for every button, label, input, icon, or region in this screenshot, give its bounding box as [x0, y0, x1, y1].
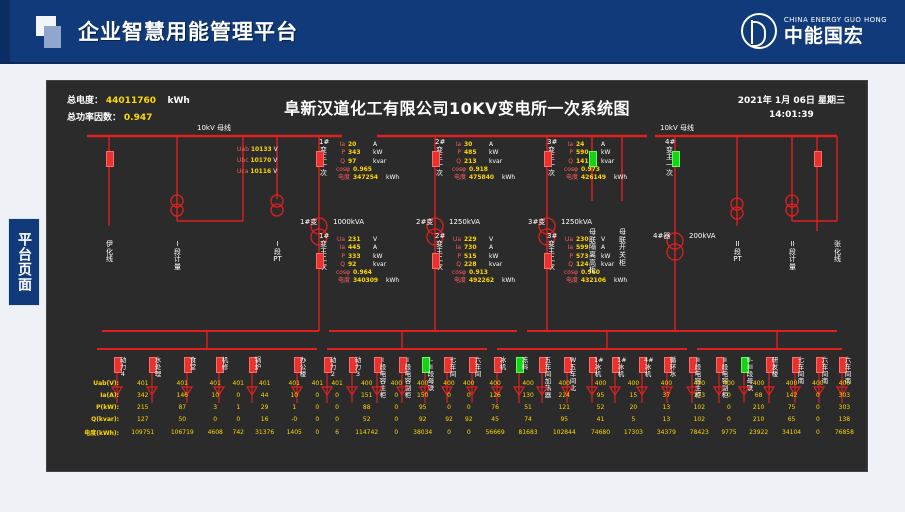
table-cell: 1: [281, 401, 307, 413]
bus-label-right: 10kV 母线: [660, 125, 694, 132]
lv1-q-unit: kvar: [373, 261, 386, 269]
lv1-p-unit: kW: [373, 253, 382, 261]
table-cell: 215: [123, 401, 163, 413]
hv3-energy-value: 426149: [581, 174, 611, 182]
datetime-block: 2021年 1月 06日 星期三 14:01:39: [738, 95, 845, 122]
lv3-ua-key: Ua: [558, 236, 573, 244]
table-cell: 210: [742, 401, 775, 413]
table-cell: 88: [347, 401, 387, 413]
pt-voltage-block: Uab 10133 V Ubc 10170 V Uca 10116 V: [237, 145, 278, 177]
table-cell: 1405: [281, 425, 307, 439]
table-cell: 400: [683, 377, 716, 389]
hv1-energy-unit: kWh: [386, 174, 399, 182]
hv2-p-unit: kW: [489, 149, 498, 157]
app-header: 企业智慧用能管理平台 CHINA ENERGY GUO HONG 中能国宏: [0, 0, 905, 64]
table-cell: 0: [439, 401, 459, 413]
table-cell: 3: [202, 401, 228, 413]
hv2-energy-unit: kWh: [502, 174, 515, 182]
table-cell: 400: [584, 377, 617, 389]
table-cell: 52: [347, 413, 387, 425]
table-cell: 0: [459, 401, 479, 413]
table-cell: 173: [683, 389, 716, 401]
lv2-ua-key: Ua: [446, 236, 461, 244]
table-cell: 78423: [683, 425, 716, 439]
uab-unit: V: [274, 146, 278, 153]
table-cell: 400: [775, 377, 808, 389]
app-title: 企业智慧用能管理平台: [78, 16, 298, 46]
lv1-ua-value: 231: [348, 236, 370, 244]
table-row-header: Uab(V):: [61, 377, 123, 389]
table-cell: 95: [545, 413, 585, 425]
table-cell: 102844: [545, 425, 585, 439]
lv3-q-key: Q: [558, 261, 573, 269]
table-cell: 87: [163, 401, 203, 413]
lv1-energy-value: 340309: [353, 277, 383, 285]
hv2-p-key: P: [446, 149, 461, 157]
lv3-energy-value: 432106: [581, 277, 611, 285]
table-cell: 0: [327, 389, 347, 401]
table-cell: 400: [828, 377, 861, 389]
table-row-header: Q(kvar):: [61, 413, 123, 425]
table-cell: 401: [307, 377, 327, 389]
table-cell: 68: [742, 389, 775, 401]
sidebar-item-platform-page[interactable]: 平台页面: [8, 218, 40, 306]
table-cell: 81683: [512, 425, 545, 439]
table-row: Uab(V):401401401401401401401401400400400…: [61, 377, 861, 389]
table-cell: 20: [617, 401, 650, 413]
table-cell: 0: [808, 389, 828, 401]
hv1-cos-key: cosφ: [330, 166, 350, 174]
transformer-rating-1: 1000kVA: [333, 219, 364, 226]
hv3-energy-key: 电度: [558, 174, 578, 182]
lv1-ua-key: Ua: [330, 236, 345, 244]
hv1-ia-key: Ia: [330, 141, 345, 149]
lv1-energy-unit: kWh: [386, 277, 399, 285]
table-cell: 102: [683, 401, 716, 413]
table-cell: 34379: [650, 425, 683, 439]
hv1-ia-value: 20: [348, 141, 370, 149]
uab-value: 10133: [251, 146, 272, 153]
table-cell: 0: [307, 425, 327, 439]
table-cell: 41: [584, 413, 617, 425]
brand-logo-icon: [741, 13, 777, 49]
table-cell: 0: [808, 413, 828, 425]
lv1-p-value: 333: [348, 253, 370, 261]
transformer-rating-3: 1250kVA: [561, 219, 592, 226]
breaker-tx1-hv[interactable]: [316, 151, 324, 167]
hv2-q-key: Q: [446, 158, 461, 166]
hv2-cos-value: 0.918: [469, 166, 491, 174]
hv1-q-value: 97: [348, 158, 370, 166]
table-cell: 92: [459, 413, 479, 425]
table-cell: 114742: [347, 425, 387, 439]
hv2-ia-value: 30: [464, 141, 486, 149]
header-accent-bar: [0, 0, 10, 62]
hv1-energy-value: 347254: [353, 174, 383, 182]
hv3-p-key: P: [558, 149, 573, 157]
hv2-p-value: 485: [464, 149, 486, 157]
table-cell: 0: [459, 389, 479, 401]
table-cell: 126: [479, 389, 512, 401]
hv2-cos-key: cosφ: [446, 166, 466, 174]
lv2-p-value: 515: [464, 253, 486, 261]
hv3-q-unit: kvar: [601, 158, 614, 166]
table-cell: 74680: [584, 425, 617, 439]
table-cell: 5: [617, 413, 650, 425]
hv3-q-key: Q: [558, 158, 573, 166]
table-cell: 150: [406, 389, 439, 401]
ubc-key: Ubc: [237, 157, 249, 164]
table-cell: 0: [386, 425, 406, 439]
table-cell: 76: [479, 401, 512, 413]
hv1-p-unit: kW: [373, 149, 382, 157]
lv3-ua-unit: V: [601, 236, 605, 244]
bay-label-section2-metering: II段计量: [788, 241, 797, 272]
sld-diagram-panel: 总电度： 44011760 kWh 总功率因数： 0.947 阜新汉道化工有限公…: [46, 80, 868, 472]
table-cell: -0: [281, 413, 307, 425]
table-cell: 0: [327, 401, 347, 413]
transformer-name-1: 1#变: [300, 219, 317, 226]
lv1-q-key: Q: [330, 261, 345, 269]
hv-meter-block-2: Ia30A P485kW Q213kvar cosφ0.918 电度475840…: [446, 141, 515, 182]
table-cell: 400: [406, 377, 439, 389]
lv2-ia-key: Ia: [446, 244, 461, 252]
table-cell: 401: [281, 377, 307, 389]
table-cell: 74: [512, 413, 545, 425]
lv2-cos-value: 0.913: [469, 269, 491, 277]
lv-meter-block-1: Ua231V Ia445A P333kW Q92kvar cosφ0.964 电…: [330, 236, 399, 286]
table-cell: 0: [459, 425, 479, 439]
hv2-ia-unit: A: [489, 141, 493, 149]
breaker-bus-tie-hv[interactable]: [589, 151, 597, 167]
table-cell: 0: [808, 401, 828, 413]
hv1-p-key: P: [330, 149, 345, 157]
feeder-label: 冻料: [521, 357, 529, 371]
table-cell: 0: [327, 413, 347, 425]
table-cell: 37: [650, 389, 683, 401]
table-cell: 146: [163, 389, 203, 401]
uab-key: Uab: [237, 146, 249, 153]
bay-label-bus-tie-isolator: 母联隔离高柜: [588, 229, 597, 275]
table-cell: 44: [248, 389, 281, 401]
breaker-tx2-hv[interactable]: [432, 151, 440, 167]
table-cell: 400: [439, 377, 459, 389]
hv1-q-unit: kvar: [373, 158, 386, 166]
table-cell: 102: [683, 413, 716, 425]
table-cell: 401: [123, 377, 163, 389]
table-cell: 92: [439, 413, 459, 425]
table-cell: 109751: [123, 425, 163, 439]
table-cell: 400: [808, 377, 828, 389]
table-cell: 52: [584, 401, 617, 413]
ubc-unit: V: [273, 157, 277, 164]
bay-label-zhanghua-line: 张化线: [833, 241, 842, 264]
brand-name-en: CHINA ENERGY GUO HONG: [784, 17, 887, 24]
table-cell: 0: [386, 389, 406, 401]
table-cell: 13: [650, 401, 683, 413]
hv3-cos-key: cosφ: [558, 166, 578, 174]
hv2-energy-key: 电度: [446, 174, 466, 182]
table-row: Q(kvar):127500016-0005209292924574954151…: [61, 413, 861, 425]
table-cell: 138: [828, 413, 861, 425]
parameter-table: Uab(V):401401401401401401401401400400400…: [61, 377, 861, 439]
table-cell: 121: [545, 401, 585, 413]
table-cell: 151: [347, 389, 387, 401]
lv2-ua-unit: V: [489, 236, 493, 244]
lv1-ia-value: 445: [348, 244, 370, 252]
table-cell: 0: [716, 401, 742, 413]
table-cell: 401: [163, 377, 203, 389]
table-cell: 400: [650, 377, 683, 389]
brand-name-cn: 中能国宏: [784, 27, 887, 46]
table-cell: 10: [281, 389, 307, 401]
table-cell: 400: [479, 377, 512, 389]
table-cell: 400: [716, 377, 742, 389]
table-cell: 75: [775, 401, 808, 413]
table-cell: 400: [459, 377, 479, 389]
uca-value: 10116: [250, 168, 271, 175]
lv2-q-key: Q: [446, 261, 461, 269]
breaker-yihua-line[interactable]: [106, 151, 114, 167]
lv2-energy-unit: kWh: [502, 277, 515, 285]
bay-label-section1-metering: I段计量: [173, 241, 182, 272]
bay-label-section2-pt: II段PT: [733, 241, 742, 264]
table-row: P(kW):2158731291008809500765112152201310…: [61, 401, 861, 413]
lv1-energy-key: 电度: [330, 277, 350, 285]
table-cell: 401: [202, 377, 228, 389]
table-cell: 401: [228, 377, 248, 389]
parameter-table-grid: Uab(V):401401401401401401401401400400400…: [61, 377, 861, 439]
table-cell: 400: [386, 377, 406, 389]
table-cell: 342: [123, 389, 163, 401]
hv1-cos-value: 0.965: [353, 166, 375, 174]
table-cell: 65: [775, 413, 808, 425]
brand-block: CHINA ENERGY GUO HONG 中能国宏: [741, 10, 887, 52]
table-cell: 34104: [775, 425, 808, 439]
app-logo-icon: [36, 16, 70, 48]
hv1-p-value: 343: [348, 149, 370, 157]
table-cell: 23922: [742, 425, 775, 439]
uca-unit: V: [273, 168, 277, 175]
feeder-label: 机修: [221, 357, 229, 371]
current-time: 14:01:39: [738, 109, 845, 123]
current-date: 2021年 1月 06日 星期三: [738, 95, 845, 109]
lv2-energy-value: 492262: [469, 277, 499, 285]
lv2-q-value: 228: [464, 261, 486, 269]
table-cell: 400: [617, 377, 650, 389]
lv3-energy-key: 电度: [558, 277, 578, 285]
hv3-energy-unit: kWh: [614, 174, 627, 182]
table-cell: 0: [808, 425, 828, 439]
table-cell: 127: [123, 413, 163, 425]
table-cell: 0: [716, 389, 742, 401]
table-row: Ia(A):3421461004410001510150001261302249…: [61, 389, 861, 401]
hv1-energy-key: 电度: [330, 174, 350, 182]
bay-label-bus-tie-breaker: 母联开关柜: [618, 229, 627, 267]
lv2-p-key: P: [446, 253, 461, 261]
table-cell: 142: [775, 389, 808, 401]
table-cell: 17303: [617, 425, 650, 439]
table-cell: 15: [617, 389, 650, 401]
lv2-ua-value: 229: [464, 236, 486, 244]
lv2-ia-value: 730: [464, 244, 486, 252]
table-cell: 130: [512, 389, 545, 401]
table-cell: 10: [202, 389, 228, 401]
lv3-p-key: P: [558, 253, 573, 261]
lv3-energy-unit: kWh: [614, 277, 627, 285]
table-cell: 31376: [248, 425, 281, 439]
hv3-ia-key: Ia: [558, 141, 573, 149]
table-cell: 0: [228, 389, 248, 401]
table-cell: 0: [307, 401, 327, 413]
table-cell: 303: [828, 401, 861, 413]
lv1-p-key: P: [330, 253, 345, 261]
transformer-name-4: 4#器: [653, 233, 670, 240]
table-cell: 0: [386, 401, 406, 413]
lv2-ia-unit: A: [489, 244, 493, 252]
table-cell: 13: [650, 413, 683, 425]
table-cell: 0: [716, 413, 742, 425]
breaker-tx1-lv[interactable]: [316, 253, 324, 269]
feeder-label: 冰机: [499, 357, 507, 371]
lv3-p-unit: kW: [601, 253, 610, 261]
table-cell: 0: [228, 413, 248, 425]
bay-label-section1-pt: I段PT: [273, 241, 282, 264]
table-cell: 9775: [716, 425, 742, 439]
table-cell: 95: [584, 389, 617, 401]
table-cell: 51: [512, 401, 545, 413]
lv2-q-unit: kvar: [489, 261, 502, 269]
table-row-header: 电度(kWh):: [61, 425, 123, 439]
hv-meter-block-1: Ia20A P343kW Q97kvar cosφ0.965 电度347254k…: [330, 141, 399, 182]
table-cell: 1: [228, 401, 248, 413]
hv2-q-unit: kvar: [489, 158, 502, 166]
breaker-tx3-hv[interactable]: [544, 151, 552, 167]
hv2-ia-key: Ia: [446, 141, 461, 149]
table-cell: 106719: [163, 425, 203, 439]
lv3-ia-unit: A: [601, 244, 605, 252]
ubc-value: 10170: [250, 157, 271, 164]
table-cell: 76858: [828, 425, 861, 439]
transformer-name-2: 2#变: [416, 219, 433, 226]
hv2-q-value: 213: [464, 158, 486, 166]
table-cell: 0: [386, 413, 406, 425]
table-cell: 29: [248, 401, 281, 413]
table-cell: 401: [327, 377, 347, 389]
table-cell: 400: [347, 377, 387, 389]
transformer-name-3: 3#变: [528, 219, 545, 226]
lv1-q-value: 92: [348, 261, 370, 269]
lv2-p-unit: kW: [489, 253, 498, 261]
uca-key: Uca: [237, 168, 248, 175]
lv1-ia-key: Ia: [330, 244, 345, 252]
hv3-cos-value: 0.973: [581, 166, 603, 174]
breaker-tx2-lv[interactable]: [432, 253, 440, 269]
breaker-tx3-lv[interactable]: [544, 253, 552, 269]
table-cell: 400: [512, 377, 545, 389]
transformer-rating-4: 200kVA: [689, 233, 716, 240]
hv1-q-key: Q: [330, 158, 345, 166]
table-cell: 0: [307, 413, 327, 425]
table-cell: 95: [406, 401, 439, 413]
table-cell: 0: [439, 425, 459, 439]
lv3-q-unit: kvar: [601, 261, 614, 269]
lv1-cos-value: 0.964: [353, 269, 375, 277]
hv3-ia-value: 24: [576, 141, 598, 149]
lv3-ia-key: Ia: [558, 244, 573, 252]
table-cell: 0: [439, 389, 459, 401]
table-cell: 56669: [479, 425, 512, 439]
table-cell: 400: [742, 377, 775, 389]
breaker-tx4-hv[interactable]: [672, 151, 680, 167]
bus-label-left: 10kV 母线: [197, 125, 231, 132]
hv3-ia-unit: A: [601, 141, 605, 149]
lv1-ia-unit: A: [373, 244, 377, 252]
table-cell: 92: [406, 413, 439, 425]
feeder-label: 食堂: [189, 357, 197, 371]
table-row: 电度(kWh):10975110671946087423137614050611…: [61, 425, 861, 439]
transformer-rating-2: 1250kVA: [449, 219, 480, 226]
bay-label-yihua-line: 伊化线: [105, 241, 114, 264]
table-cell: 303: [828, 389, 861, 401]
table-cell: 6: [327, 425, 347, 439]
lv2-energy-key: 电度: [446, 277, 466, 285]
table-cell: 50: [163, 413, 203, 425]
table-cell: 400: [545, 377, 585, 389]
table-cell: 0: [202, 413, 228, 425]
table-cell: 401: [248, 377, 281, 389]
table-cell: 742: [228, 425, 248, 439]
hv3-p-unit: kW: [601, 149, 610, 157]
hv1-ia-unit: A: [373, 141, 377, 149]
table-cell: 210: [742, 413, 775, 425]
table-cell: 16: [248, 413, 281, 425]
feeder-label: 锅炉: [254, 357, 262, 371]
table-cell: 224: [545, 389, 585, 401]
table-cell: 4608: [202, 425, 228, 439]
hv2-energy-value: 475840: [469, 174, 499, 182]
table-cell: 45: [479, 413, 512, 425]
lv1-ua-unit: V: [373, 236, 377, 244]
breaker-zhanghua-line[interactable]: [814, 151, 822, 167]
table-row-header: P(kW):: [61, 401, 123, 413]
lv-meter-block-2: Ua229V Ia730A P515kW Q228kvar cosφ0.913 …: [446, 236, 515, 286]
table-cell: 0: [307, 389, 327, 401]
table-row-header: Ia(A):: [61, 389, 123, 401]
table-cell: 38034: [406, 425, 439, 439]
